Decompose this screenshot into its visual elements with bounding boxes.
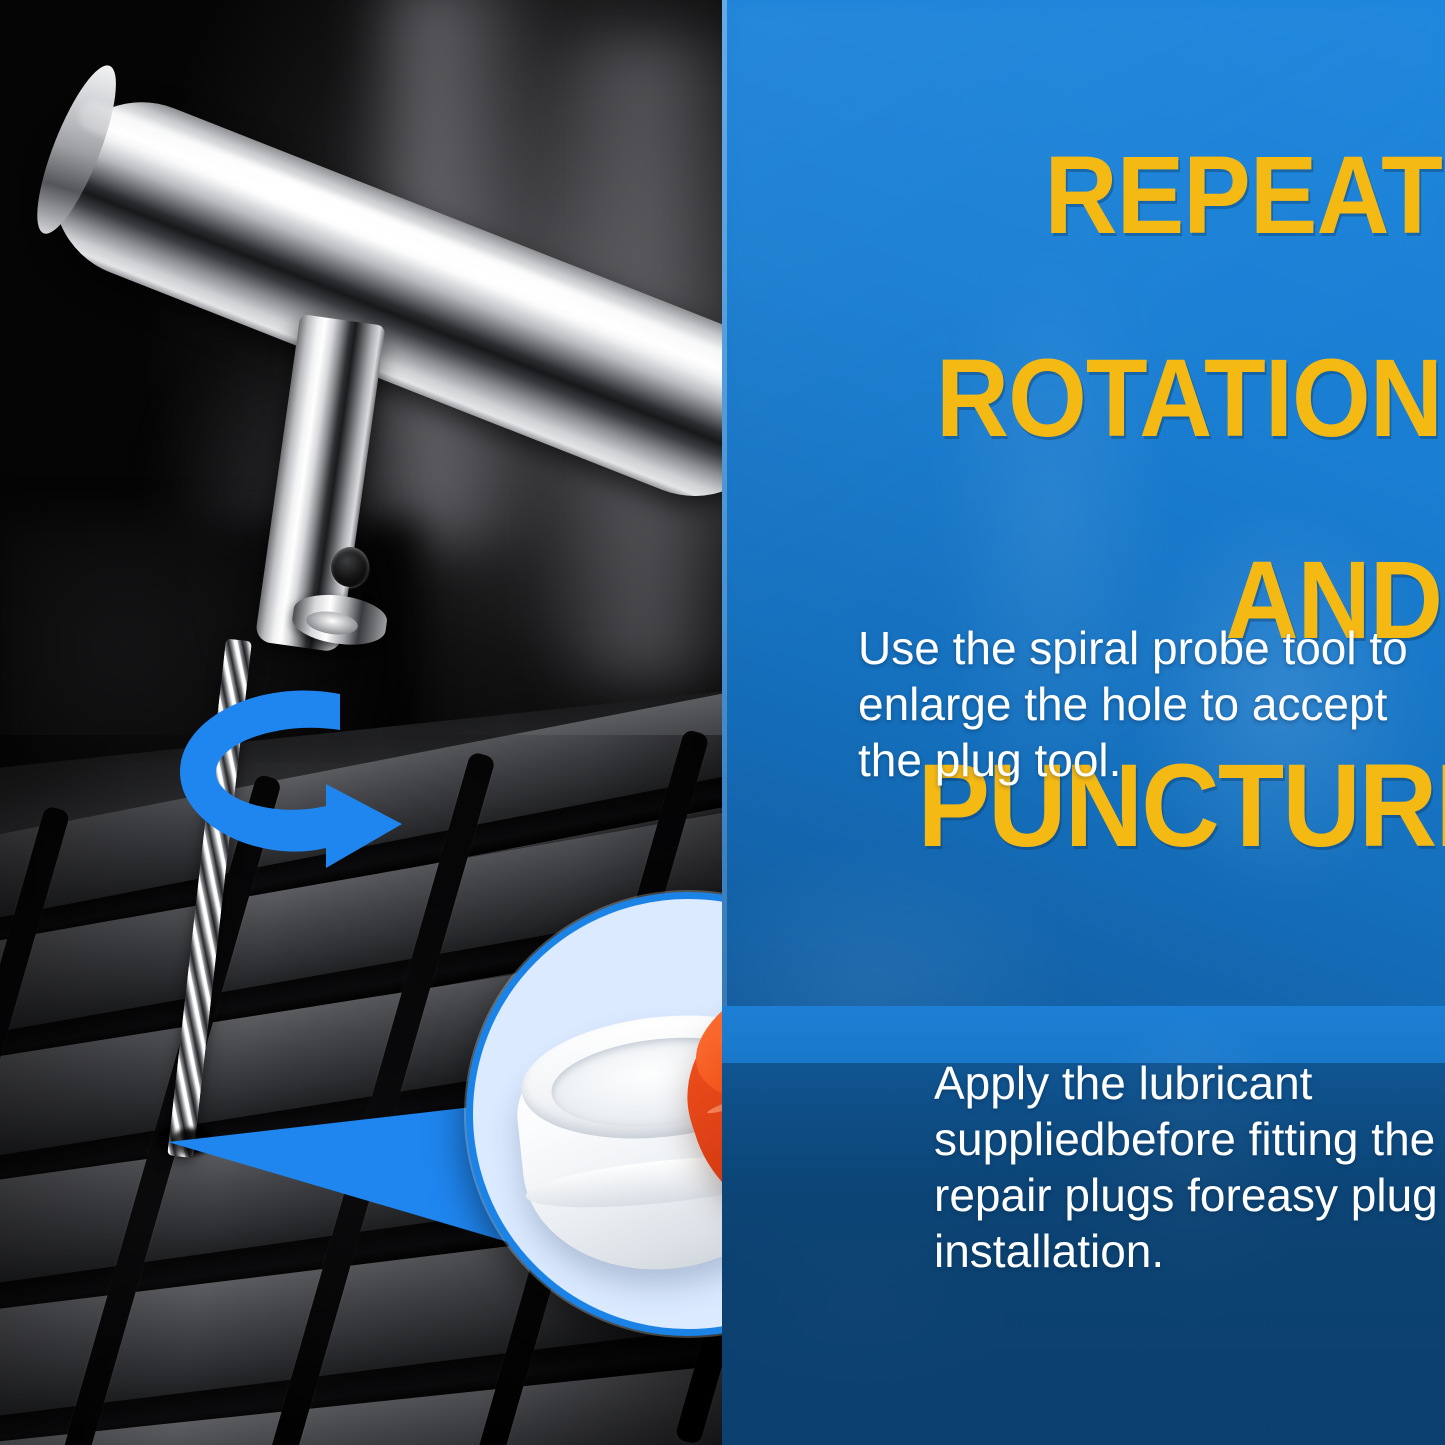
page-title: REPEAT ROTATION AND PUNCTURE bbox=[918, 44, 1442, 962]
step-description-lubricant: Apply the lubricant suppliedbefore fitti… bbox=[934, 1055, 1444, 1279]
product-infographic: REPEAT ROTATION AND PUNCTURE Use the spi… bbox=[0, 0, 1445, 1445]
headline-line-2: ROTATION bbox=[918, 348, 1442, 449]
step-description-probe: Use the spiral probe tool to enlarge the… bbox=[858, 620, 1433, 788]
photo-panel bbox=[0, 0, 725, 1445]
text-panel: REPEAT ROTATION AND PUNCTURE Use the spi… bbox=[722, 0, 1445, 1445]
t-handle-spiral-probe-tool bbox=[0, 0, 725, 760]
headline-line-1: REPEAT bbox=[918, 145, 1442, 246]
